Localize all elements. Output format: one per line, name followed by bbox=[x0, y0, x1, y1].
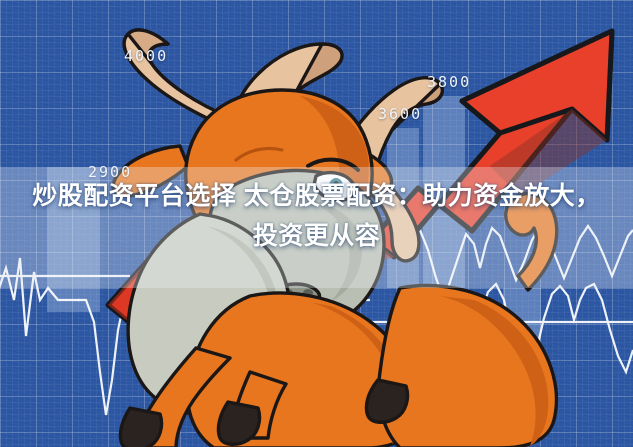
chart-label-3600: 3600 bbox=[378, 105, 422, 123]
bull-icon bbox=[0, 0, 633, 447]
chart-label-2900: 2900 bbox=[88, 163, 132, 181]
chart-label-4000: 4000 bbox=[124, 47, 168, 65]
chart-label-3800: 3800 bbox=[427, 73, 471, 91]
banner-image: 4000 2900 3600 3800 炒股配资平台选择 太仓股票配资：助力资金… bbox=[0, 0, 633, 447]
